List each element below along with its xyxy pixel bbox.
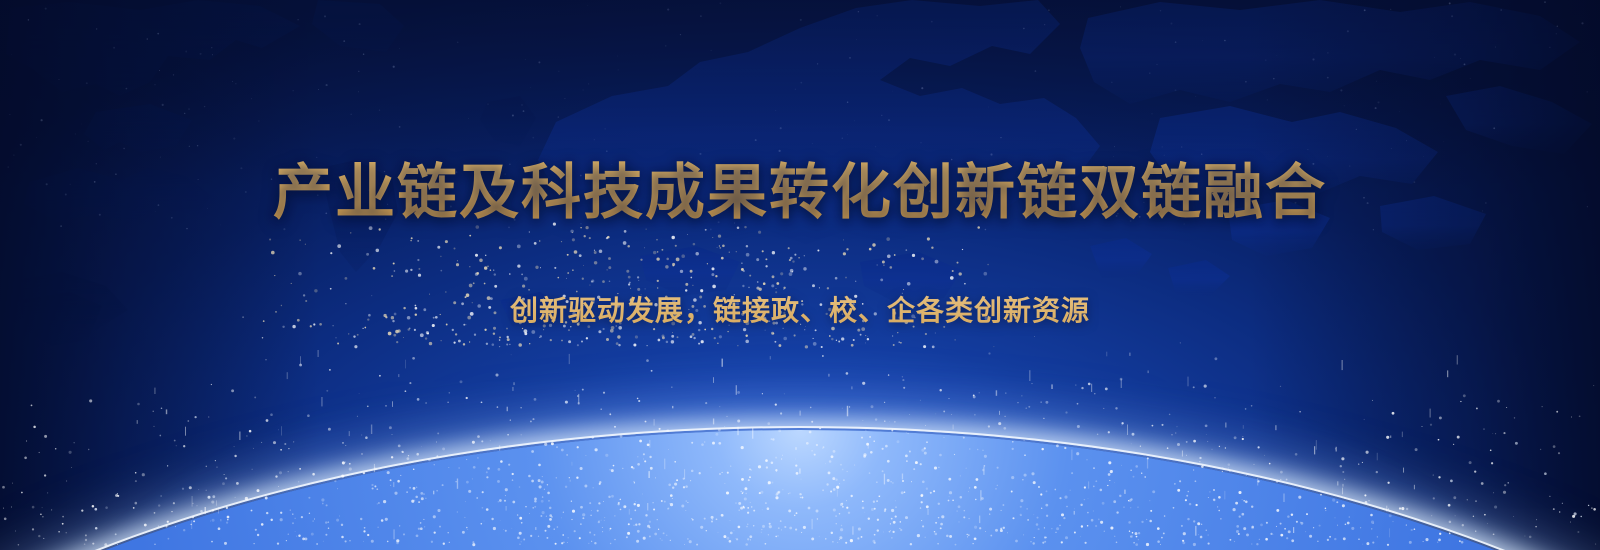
banner-title: 产业链及科技成果转化创新链双链融合 — [0, 0, 1600, 223]
banner-content: 产业链及科技成果转化创新链双链融合 创新驱动发展，链接政、校、企各类创新资源 — [0, 0, 1600, 325]
hero-banner: 产业链及科技成果转化创新链双链融合 创新驱动发展，链接政、校、企各类创新资源 — [0, 0, 1600, 550]
banner-subtitle: 创新驱动发展，链接政、校、企各类创新资源 — [0, 223, 1600, 325]
